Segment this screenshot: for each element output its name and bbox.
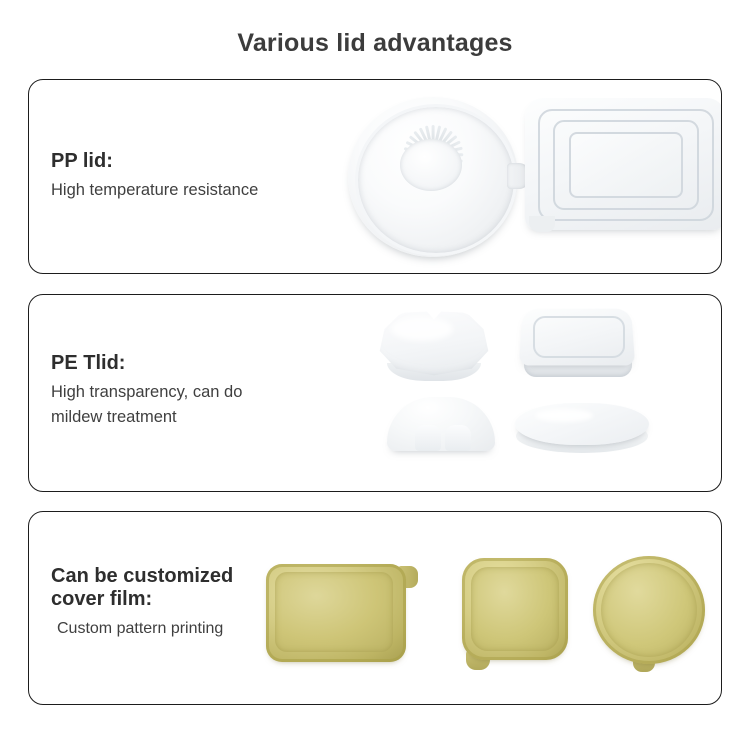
panel-pp-lid-text: PP lid: High temperature resistance <box>51 150 258 203</box>
gold-rectangular-foil-lid-inner <box>275 572 393 652</box>
rectangular-pp-lid-ring-inner <box>569 132 683 198</box>
panel-cover-film-heading: Can be customized cover film: <box>51 565 233 611</box>
gold-rectangular-foil-lid-image <box>266 556 422 674</box>
round-pet-dome-lid-fold-left <box>415 425 441 451</box>
heart-pet-dome-lid-highlight <box>391 317 453 341</box>
panel-cover-film-text: Can be customized cover film: Custom pat… <box>51 565 233 641</box>
round-pet-dome-lid-fold-right <box>445 425 471 451</box>
panel-pe-tlid: PE Tlid: High transparency, can do milde… <box>28 294 722 492</box>
square-pet-dome-lid-image <box>521 307 643 387</box>
panel-pe-tlid-heading: PE Tlid: <box>51 352 242 375</box>
oval-pet-lid-highlight <box>535 409 593 422</box>
gold-square-foil-lid-inner <box>471 567 559 651</box>
rectangular-pp-lid-image <box>525 98 722 248</box>
panel-pp-lid-heading: PP lid: <box>51 150 258 173</box>
round-pp-lid-image <box>344 85 534 270</box>
panel-cover-film: Can be customized cover film: Custom pat… <box>28 511 722 705</box>
oval-pet-lid-image <box>515 403 657 461</box>
heart-pet-dome-lid-image <box>375 309 505 389</box>
page-title: Various lid advantages <box>0 17 750 63</box>
gold-round-foil-lid-image <box>589 552 717 680</box>
rectangular-pp-lid-notch <box>529 216 555 232</box>
oval-pet-lid-top <box>515 403 649 445</box>
panel-pe-tlid-text: PE Tlid: High transparency, can do milde… <box>51 352 242 430</box>
square-pet-dome-lid-inner-panel <box>533 316 625 358</box>
gold-square-foil-lid-image <box>454 554 584 678</box>
panel-cover-film-description: Custom pattern printing <box>51 616 233 641</box>
panel-pp-lid-description: High temperature resistance <box>51 178 258 203</box>
round-pet-dome-lid-cap <box>387 397 495 451</box>
gold-round-foil-lid-inner <box>601 563 697 657</box>
panel-pp-lid: PP lid: High temperature resistance <box>28 79 722 274</box>
round-pet-dome-lid-image <box>387 397 507 459</box>
panel-pe-tlid-description: High transparency, can do mildew treatme… <box>51 380 242 430</box>
round-pp-lid-center <box>400 139 462 191</box>
